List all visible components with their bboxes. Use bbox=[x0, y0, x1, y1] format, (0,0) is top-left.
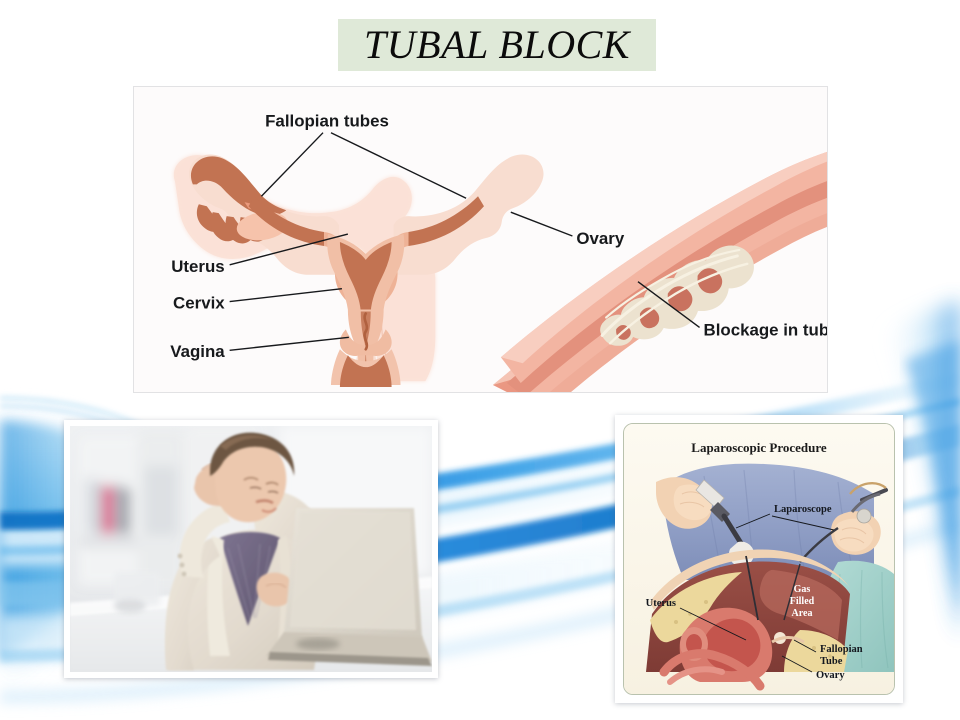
label-gas-filled-area-line1: Gas bbox=[794, 584, 811, 595]
label-uterus: Uterus bbox=[171, 257, 224, 276]
label-lap-fallopian-tube-line2: Tube bbox=[820, 656, 843, 667]
label-laparoscope: Laparoscope bbox=[774, 504, 832, 515]
laparoscopic-image: Laparoscopic Procedure bbox=[623, 423, 895, 695]
label-blockage-in-tube: Blockage in tube bbox=[704, 320, 827, 339]
stress-photo bbox=[70, 426, 432, 672]
label-gas-filled-area-line3: Area bbox=[792, 608, 813, 619]
page-title: TUBAL BLOCK bbox=[338, 19, 656, 71]
laparoscopic-title: Laparoscopic Procedure bbox=[691, 440, 827, 455]
slide-canvas: TUBAL BLOCK bbox=[0, 0, 960, 720]
label-lap-ovary: Ovary bbox=[816, 670, 845, 681]
stress-photo-frame bbox=[64, 420, 438, 678]
label-lap-uterus: Uterus bbox=[646, 598, 676, 609]
label-cervix: Cervix bbox=[173, 294, 225, 313]
anatomy-illustration: Fallopian tubes Ovary Uterus Cervix Vagi… bbox=[134, 87, 827, 392]
label-fallopian-tubes: Fallopian tubes bbox=[265, 112, 389, 131]
woman-with-pain-photo-illustration bbox=[70, 426, 432, 672]
label-lap-fallopian-tube-line1: Fallopian bbox=[820, 644, 863, 655]
laparoscopic-procedure-illustration: Laparoscopic Procedure bbox=[624, 424, 894, 694]
laparoscopic-image-frame: Laparoscopic Procedure bbox=[615, 415, 903, 703]
anatomy-diagram-panel: Fallopian tubes Ovary Uterus Cervix Vagi… bbox=[133, 86, 828, 393]
label-ovary: Ovary bbox=[576, 229, 624, 248]
label-vagina: Vagina bbox=[170, 342, 225, 361]
label-gas-filled-area-line2: Filled bbox=[790, 596, 815, 607]
